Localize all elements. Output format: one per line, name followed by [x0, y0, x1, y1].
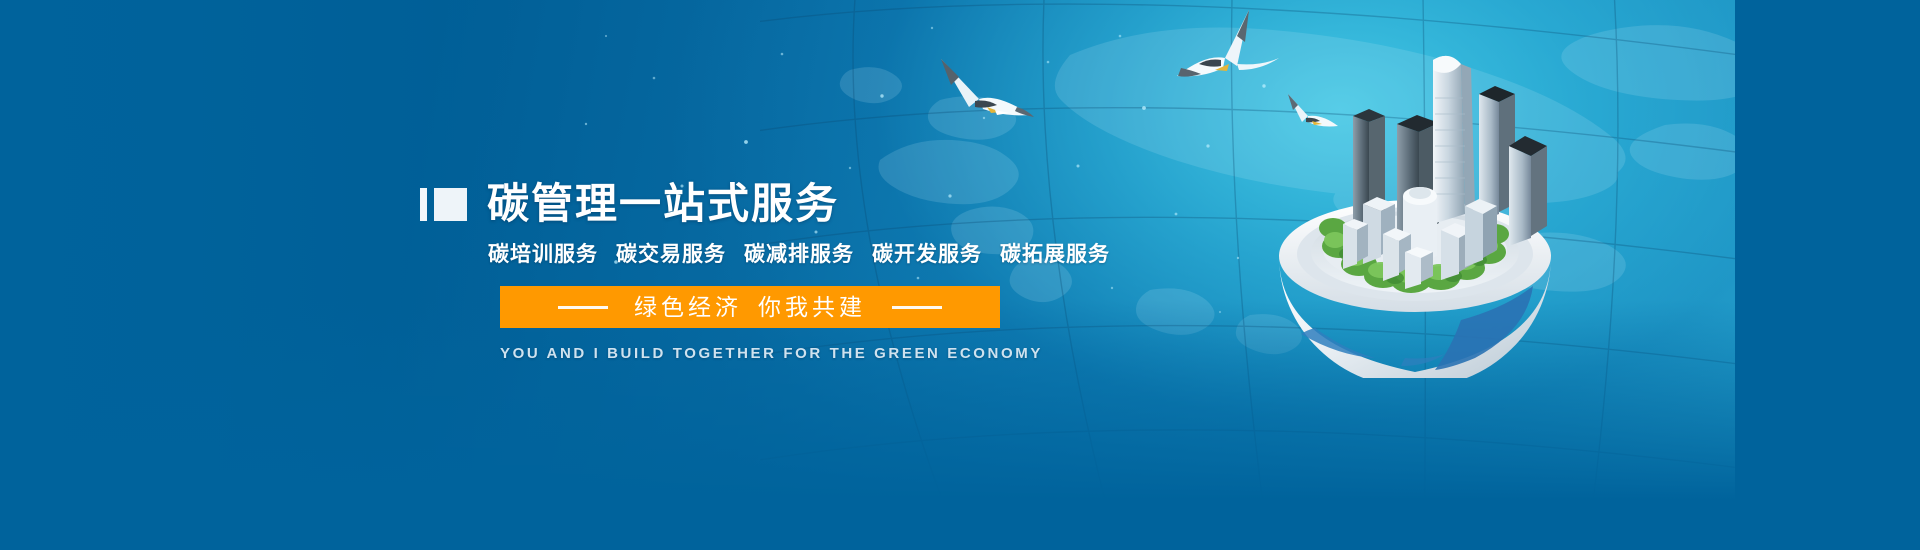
- banner-copy: 碳管理一站式服务 碳培训服务碳交易服务碳减排服务碳开发服务碳拓展服务 绿色经济你…: [420, 178, 1180, 364]
- title-row: 碳管理一站式服务: [420, 178, 1180, 230]
- slogan-text: 绿色经济你我共建: [634, 294, 866, 320]
- dash-rule-right-icon: [892, 306, 942, 309]
- slogan-ribbon: 绿色经济你我共建: [500, 286, 1000, 328]
- slogan-right: 你我共建: [758, 294, 866, 320]
- promo-banner: 碳管理一站式服务 碳培训服务碳交易服务碳减排服务碳开发服务碳拓展服务 绿色经济你…: [0, 0, 1920, 550]
- square-icon: [434, 188, 467, 221]
- background-right-band: [1735, 0, 1920, 550]
- brand-mark: [420, 188, 467, 221]
- vertical-bar-icon: [420, 188, 427, 221]
- tagline: YOU AND I BUILD TOGETHER FOR THE GREEN E…: [500, 344, 1180, 364]
- seagull-icon: [935, 55, 1040, 135]
- page-title: 碳管理一站式服务: [487, 181, 839, 227]
- service-item: 碳交易服务: [616, 243, 726, 266]
- slogan-left: 绿色经济: [634, 294, 742, 320]
- dash-rule-left-icon: [558, 306, 608, 309]
- globe-hemisphere-with-city: [1255, 28, 1575, 378]
- service-item: 碳开发服务: [872, 243, 982, 266]
- service-list: 碳培训服务碳交易服务碳减排服务碳开发服务碳拓展服务: [488, 242, 1180, 268]
- service-item: 碳培训服务: [488, 243, 598, 266]
- service-item: 碳减排服务: [744, 243, 854, 266]
- service-item: 碳拓展服务: [1000, 243, 1110, 266]
